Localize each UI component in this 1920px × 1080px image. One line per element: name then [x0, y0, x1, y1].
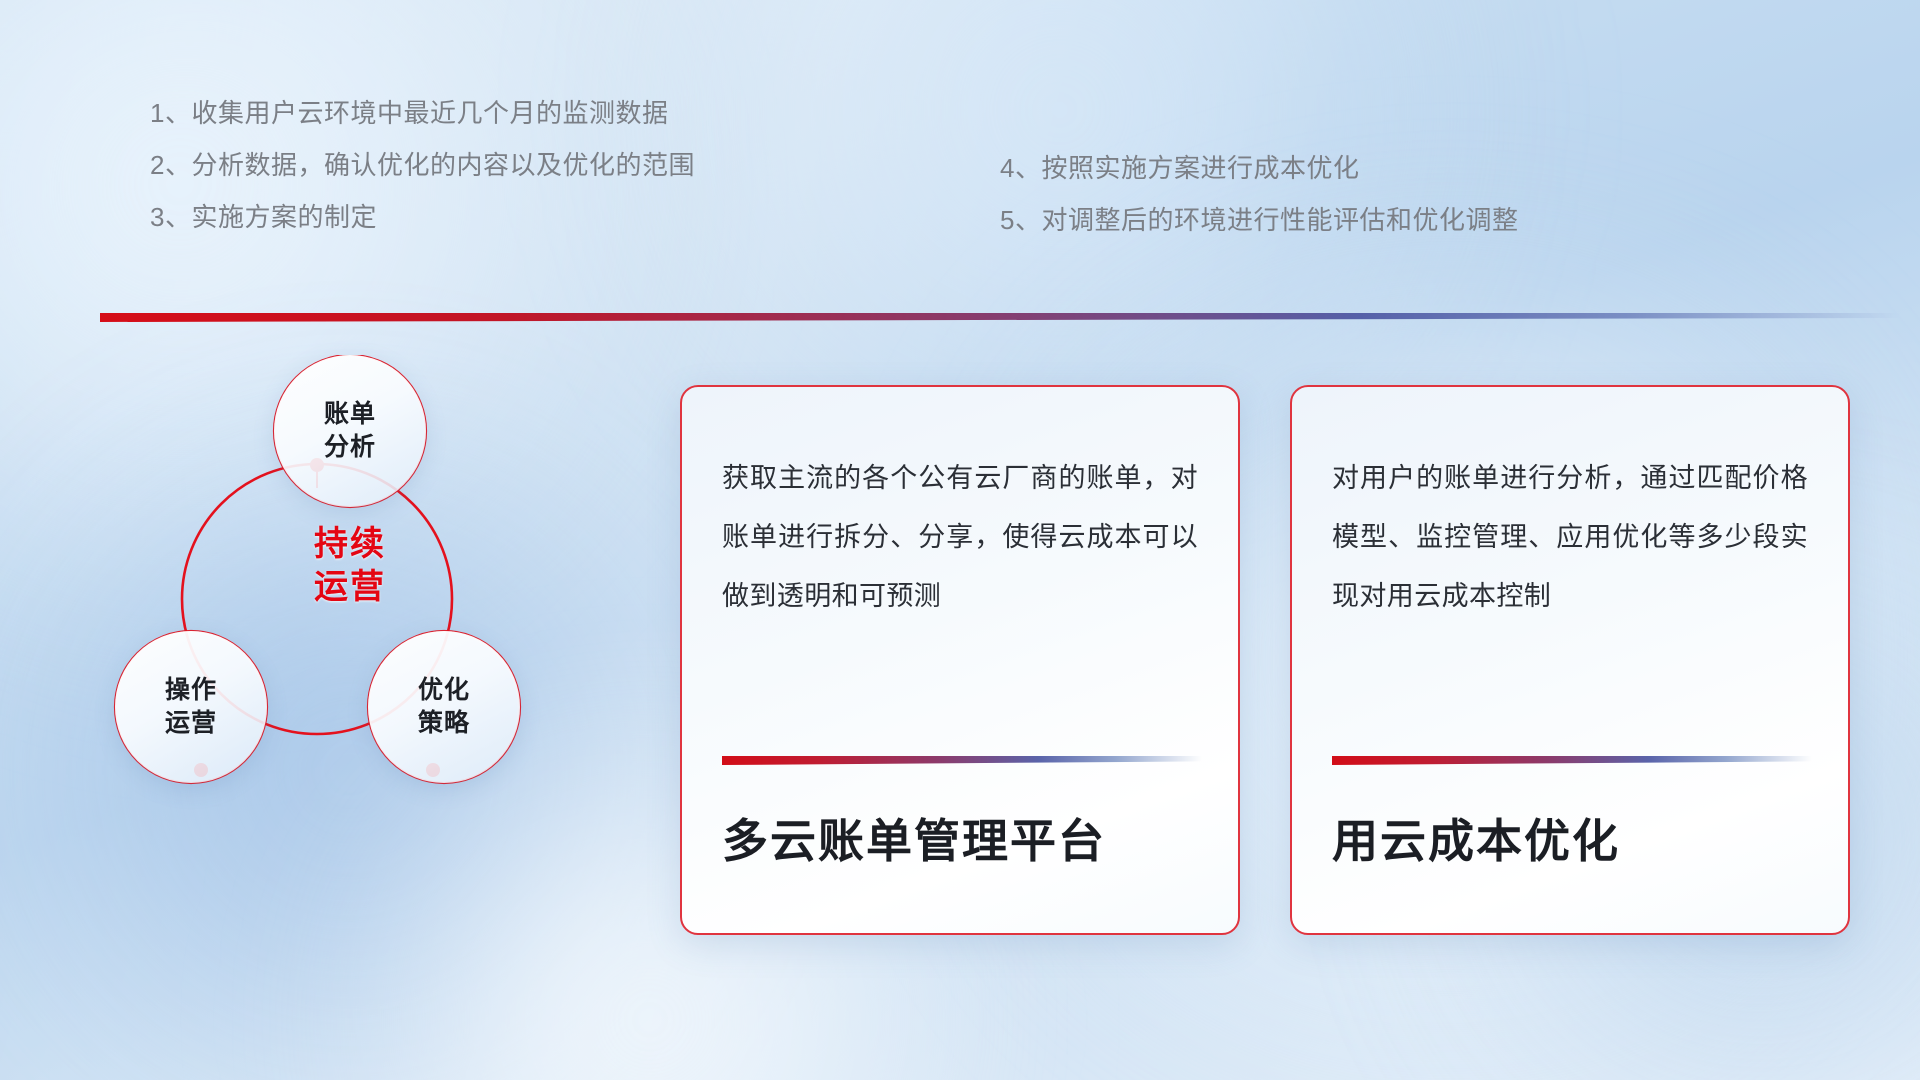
card-body-text: 对用户的账单进行分析，通过匹配价格模型、监控管理、应用优化等多少段实现对用云成本…: [1332, 449, 1808, 626]
step-item: 2、分析数据，确认优化的内容以及优化的范围: [150, 152, 695, 178]
card-title: 多云账单管理平台: [722, 805, 1106, 871]
step-item: 1、收集用户云环境中最近几个月的监测数据: [150, 100, 695, 126]
step-item: 5、对调整后的环境进行性能评估和优化调整: [1000, 207, 1518, 233]
card-multicloud-billing-platform[interactable]: 获取主流的各个公有云厂商的账单，对账单进行拆分、分享，使得云成本可以做到透明和可…: [680, 385, 1240, 935]
venn-bubble-label: 操作运营: [165, 674, 217, 740]
card-divider-rule: [722, 756, 1202, 765]
venn-bubble-operations[interactable]: 操作运营: [115, 631, 267, 783]
venn-center-line-2: 运营: [314, 568, 386, 606]
venn-center-label: 持续 运营: [255, 523, 445, 608]
slide-canvas: 1、收集用户云环境中最近几个月的监测数据 2、分析数据，确认优化的内容以及优化的…: [0, 0, 1920, 1080]
steps-left-column: 1、收集用户云环境中最近几个月的监测数据 2、分析数据，确认优化的内容以及优化的…: [150, 100, 695, 256]
card-body-text: 获取主流的各个公有云厂商的账单，对账单进行拆分、分享，使得云成本可以做到透明和可…: [722, 449, 1198, 626]
venn-diagram: 账单分析 操作运营 优化策略 持续 运营: [95, 355, 615, 825]
step-item: 3、实施方案的制定: [150, 204, 695, 230]
venn-bubble-billing-analysis[interactable]: 账单分析: [274, 355, 426, 507]
card-title: 用云成本优化: [1332, 805, 1620, 871]
card-divider-rule: [1332, 756, 1812, 765]
card-cloud-cost-optimization[interactable]: 对用户的账单进行分析，通过匹配价格模型、监控管理、应用优化等多少段实现对用云成本…: [1290, 385, 1850, 935]
venn-bubble-optimization-strategy[interactable]: 优化策略: [368, 631, 520, 783]
step-item: 4、按照实施方案进行成本优化: [1000, 155, 1518, 181]
steps-right-column: 4、按照实施方案进行成本优化 5、对调整后的环境进行性能评估和优化调整: [1000, 155, 1518, 259]
venn-center-line-1: 持续: [314, 525, 386, 563]
venn-bubble-label: 账单分析: [324, 398, 376, 464]
venn-bubble-label: 优化策略: [418, 674, 470, 740]
